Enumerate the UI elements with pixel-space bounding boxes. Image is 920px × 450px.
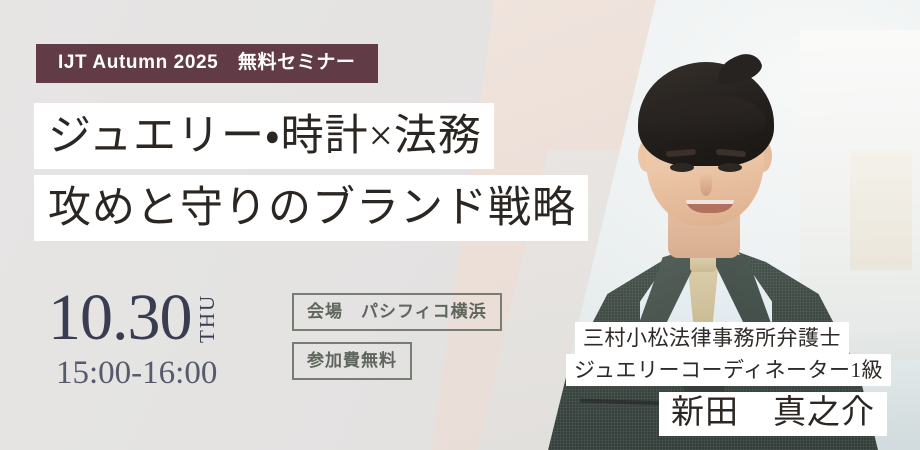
speaker-credential-line-1: 三村小松法律事務所弁護士 bbox=[575, 322, 849, 354]
person-eye-right bbox=[718, 163, 742, 172]
event-info-badges: 会場 パシフィコ横浜 参加費無料 bbox=[292, 293, 502, 380]
event-date-day: 10.30 bbox=[48, 288, 192, 349]
venue-badge: 会場 パシフィコ横浜 bbox=[292, 293, 502, 331]
event-time: 15:00-16:00 bbox=[48, 355, 220, 392]
photo-wall-accent bbox=[850, 150, 912, 270]
speaker-name: 新田 真之介 bbox=[659, 392, 887, 436]
speaker-info: 三村小松法律事務所弁護士 ジュエリーコーディネーター1級 新田 真之介 bbox=[575, 322, 885, 436]
event-date-row: 10.30 THU bbox=[48, 288, 220, 349]
person-eye-left bbox=[670, 163, 694, 172]
free-admission-badge: 参加費無料 bbox=[292, 342, 412, 380]
banner-title: ジュエリー・時計×法務 攻めと守りのブランド戦略 bbox=[34, 103, 588, 241]
person-nose bbox=[700, 174, 712, 196]
speaker-credential-line-2: ジュエリーコーディネーター1級 bbox=[566, 354, 891, 386]
seminar-label-badge: IJT Autumn 2025 無料セミナー bbox=[36, 44, 378, 83]
title-line-1: ジュエリー・時計×法務 bbox=[34, 103, 494, 169]
title-line-2: 攻めと守りのブランド戦略 bbox=[34, 175, 588, 241]
person-hair-fringe bbox=[646, 96, 766, 140]
seminar-banner: IJT Autumn 2025 無料セミナー ジュエリー・時計×法務 攻めと守り… bbox=[0, 0, 920, 450]
event-date-weekday: THU bbox=[195, 289, 220, 343]
event-date-block: 10.30 THU 15:00-16:00 bbox=[48, 288, 220, 392]
